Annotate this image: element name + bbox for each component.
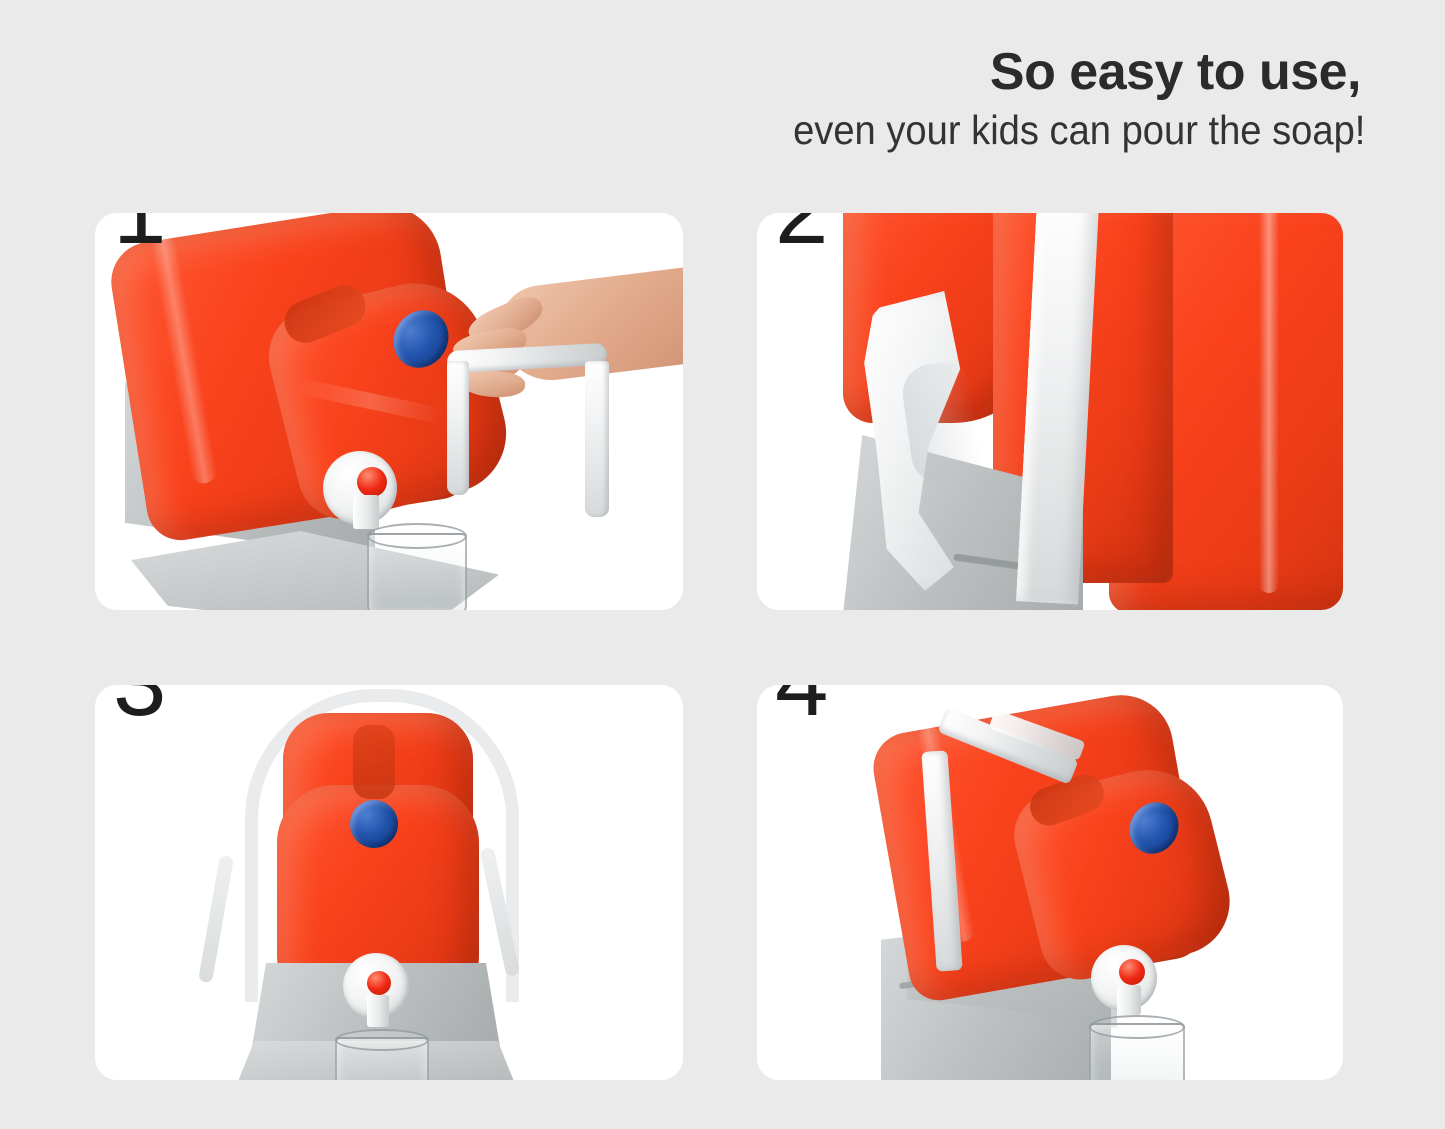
spigot-spout[interactable]	[353, 495, 379, 529]
spigot-spout[interactable]	[367, 995, 389, 1027]
measuring-cup-rim	[335, 1029, 429, 1051]
spigot-push-button[interactable]	[1119, 959, 1145, 985]
spigot-push-button[interactable]	[357, 467, 387, 497]
page-title: So easy to use,	[990, 46, 1361, 98]
step-2-illustration	[757, 213, 1343, 610]
step-1-illustration	[95, 213, 683, 610]
step-3-illustration	[95, 685, 683, 1080]
velcro-strap-right-leg	[585, 361, 609, 517]
velcro-strap-tail-left	[198, 855, 234, 983]
page-subtitle: even your kids can pour the soap!	[793, 110, 1365, 151]
measuring-cup-rim	[367, 523, 467, 549]
step-panel-1: 1	[95, 213, 683, 610]
header: So easy to use, even your kids can pour …	[0, 0, 1445, 175]
spigot-spout[interactable]	[1117, 985, 1141, 1015]
step-panel-2: 2	[757, 213, 1343, 610]
spigot-push-button[interactable]	[367, 971, 391, 995]
step-panel-3: 3	[95, 685, 683, 1080]
jug-handle-groove	[353, 725, 395, 799]
blue-cap	[350, 800, 398, 848]
velcro-strap-left-leg	[447, 361, 469, 495]
step-panel-4: 4	[757, 685, 1343, 1080]
step-4-illustration	[757, 685, 1343, 1080]
measuring-cup-rim	[1089, 1015, 1185, 1039]
